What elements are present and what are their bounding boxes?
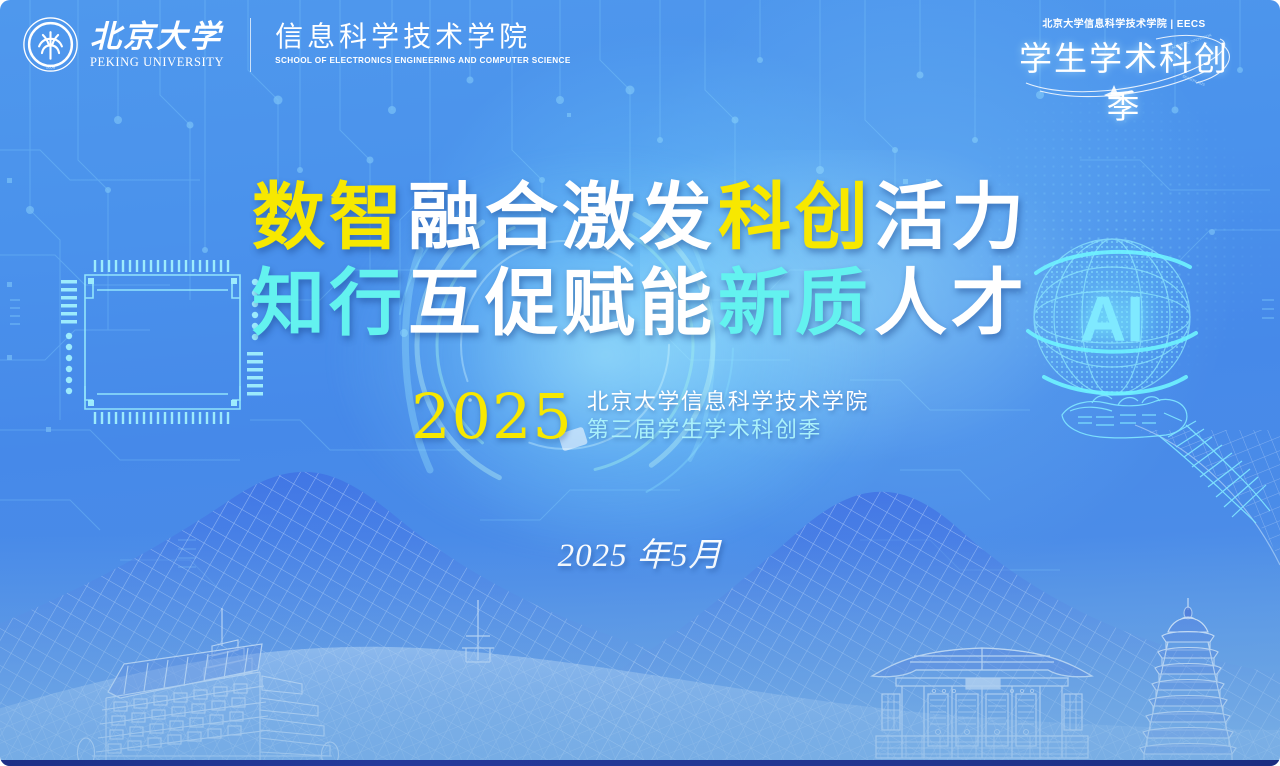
logo-divider <box>250 18 251 72</box>
subtitle-event: 第三届学生学术科创季 <box>587 417 869 445</box>
poster-canvas: 1898 北京大学 PEKING UNIVERSITY 信息科学技术学院 SCH… <box>0 0 1280 766</box>
pku-logo-lockup: 1898 北京大学 PEKING UNIVERSITY 信息科学技术学院 SCH… <box>22 16 571 73</box>
pku-name-en: PEKING UNIVERSITY <box>90 56 224 69</box>
season-logo: ACADEMIC INNOVATION SEASON 2025 北京大学信息科学… <box>1006 15 1242 128</box>
pku-name-block: 北京大学 PEKING UNIVERSITY <box>90 21 224 69</box>
robot-hand-icon: AI <box>1000 225 1270 525</box>
title-seg-shuzhi: 数智 <box>251 174 407 260</box>
school-name-block: 信息科学技术学院 SCHOOL OF ELECTRONICS ENGINEERI… <box>275 23 570 65</box>
ai-sphere-label: AI <box>1080 283 1144 355</box>
pku-name-cn: 北京大学 <box>90 21 224 52</box>
bottom-bar <box>0 760 1280 766</box>
poster-header: 1898 北京大学 PEKING UNIVERSITY 信息科学技术学院 SCH… <box>0 0 1280 104</box>
svg-text:1898: 1898 <box>46 65 56 70</box>
title-seg-kechuang: 科创 <box>717 174 873 260</box>
title-seg-zhixing: 知行 <box>251 260 407 346</box>
subtitle-year: 2025 <box>411 386 573 448</box>
pku-seal-icon: 1898 <box>22 16 79 73</box>
title-seg-xinzhi: 新质 <box>717 260 873 346</box>
school-name-en: SCHOOL OF ELECTRONICS ENGINEERING AND CO… <box>275 57 570 65</box>
season-swoosh-icon: ACADEMIC INNOVATION SEASON 2025 <box>1006 21 1242 99</box>
school-name-cn: 信息科学技术学院 <box>275 23 570 51</box>
title-seg-ronghe: 融合激发 <box>407 174 717 260</box>
title-seg-hucu: 互促赋能 <box>407 260 717 346</box>
subtitle-texts: 北京大学信息科学技术学院 第三届学生学术科创季 <box>587 389 869 445</box>
bottom-haze <box>0 536 1280 766</box>
subtitle-org: 北京大学信息科学技术学院 <box>587 389 869 417</box>
